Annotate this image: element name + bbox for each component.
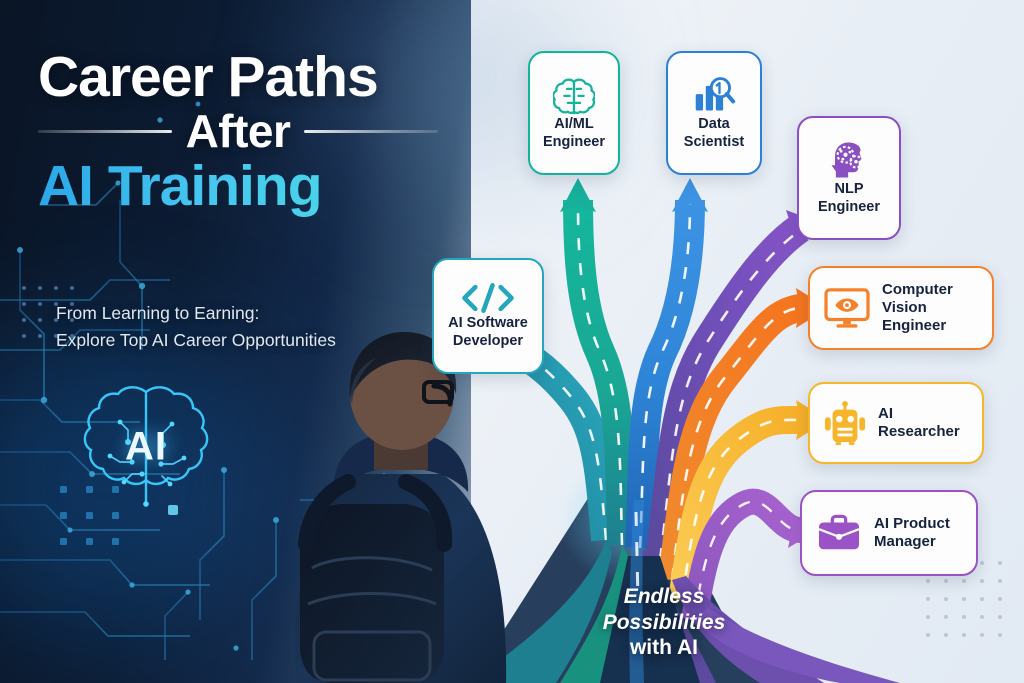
robot-icon (824, 401, 866, 445)
subtitle-line2: Explore Top AI Career Opportunities (56, 327, 336, 354)
headline-block: Career Paths After AI Training (38, 48, 438, 218)
career-card-computer-vision-engineer[interactable]: Computer Vision Engineer (808, 266, 994, 350)
career-card-ai-researcher[interactable]: AI Researcher (808, 382, 984, 464)
career-card-ai-software-developer[interactable]: AI Software Developer (432, 258, 544, 374)
career-card-label: NLP Engineer (818, 181, 880, 216)
bottom-caption: Endless Possibilities with AI (576, 584, 752, 661)
career-card-label: Computer Vision Engineer (882, 281, 978, 336)
infographic-canvas: Career Paths After AI Training From Lear… (0, 0, 1024, 683)
briefcase-icon (816, 513, 862, 553)
caption-line3: with AI (576, 635, 752, 661)
career-card-label: AI Software Developer (448, 315, 528, 350)
ai-brain-badge: AI (62, 378, 230, 518)
career-card-nlp-engineer[interactable]: NLP Engineer (797, 116, 901, 240)
page-title-line3: AI Training (38, 156, 438, 218)
career-card-label: AI/ML Engineer (543, 116, 605, 151)
subtitle: From Learning to Earning: Explore Top AI… (56, 300, 336, 354)
career-card-data-scientist[interactable]: Data Scientist (666, 51, 762, 175)
career-card-label: Data Scientist (684, 116, 744, 151)
student-figure (256, 332, 546, 683)
title-divider-row: After (38, 108, 438, 154)
caption-line1: Endless (576, 584, 752, 610)
code-brackets-icon (459, 281, 517, 315)
brain-icon (553, 74, 595, 116)
career-card-ai-product-manager[interactable]: AI Product Manager (800, 490, 978, 576)
career-card-aiml-engineer[interactable]: AI/ML Engineer (528, 51, 620, 175)
page-title-line2: After (186, 108, 291, 154)
subtitle-line1: From Learning to Earning: (56, 300, 336, 327)
career-card-label: AI Product Manager (874, 515, 950, 552)
monitor-eye-icon (824, 287, 870, 329)
bar-chart-magnifier-icon (692, 74, 736, 116)
divider-right (304, 130, 438, 133)
career-card-label: AI Researcher (878, 405, 960, 442)
divider-left (38, 130, 172, 133)
brand-badge-label: AI (62, 425, 230, 470)
head-gears-icon (828, 139, 870, 181)
caption-line2: Possibilities (576, 610, 752, 636)
page-title-line1: Career Paths (38, 48, 438, 106)
